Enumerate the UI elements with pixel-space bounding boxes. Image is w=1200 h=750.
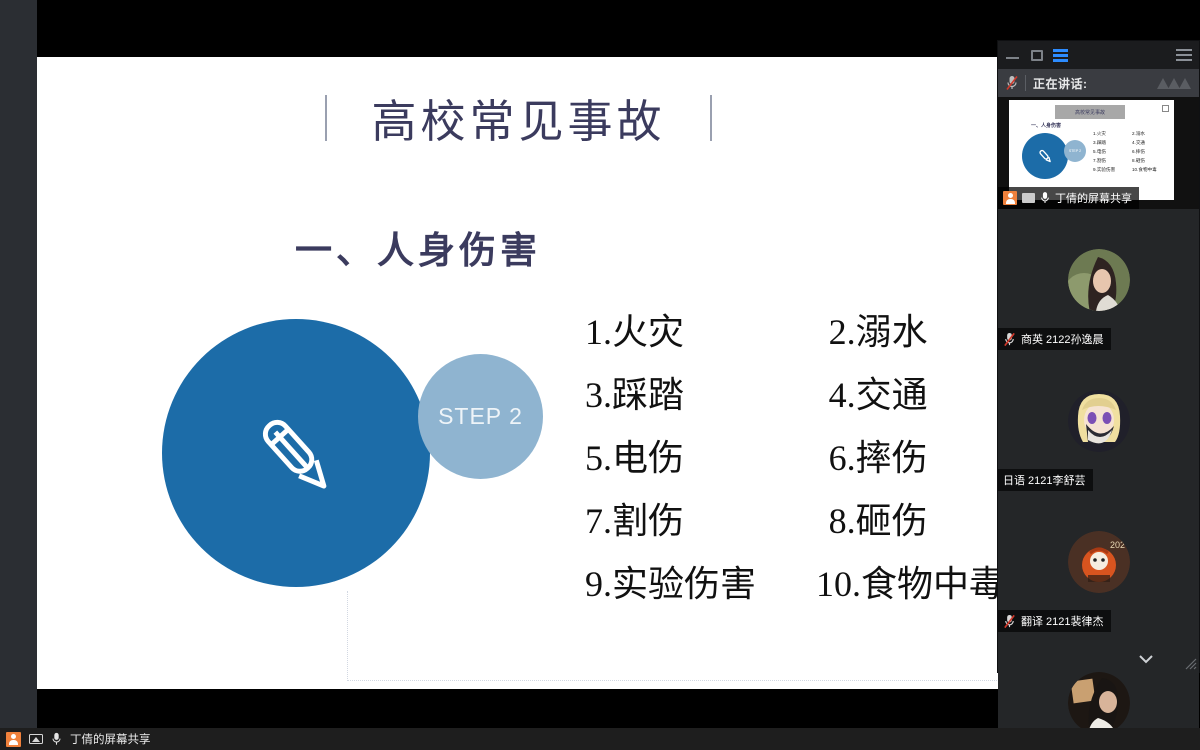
- list-item: 10.食物中毒: [816, 561, 1000, 607]
- desktop-left-strip: [0, 0, 37, 728]
- taskbar[interactable]: 丁倩的屏幕共享: [0, 728, 1200, 750]
- thumb-subtitle: 一、人身伤害: [1031, 122, 1061, 129]
- avatar: [1068, 390, 1130, 452]
- thumb-title: 高校常见事故: [1055, 105, 1125, 119]
- slide-title: 高校常见事故: [371, 85, 665, 150]
- mic-icon: [51, 732, 62, 746]
- thumb-list-item: 1.火灾: [1093, 130, 1132, 139]
- avatar: [1068, 249, 1130, 311]
- list-item: 8.砸伤: [829, 498, 1000, 544]
- thumb-step-badge: STEP 2: [1064, 140, 1086, 162]
- audio-wave-icon: [1155, 75, 1191, 91]
- mic-muted-icon: [1003, 332, 1016, 347]
- mic-muted-icon: [1006, 75, 1018, 91]
- thumb-list-item: 10.食物中毒: [1132, 166, 1171, 175]
- list-item: 1.火灾: [585, 309, 829, 355]
- title-rule-left: [325, 95, 327, 141]
- participant-name: 日语 2121李舒芸: [1003, 472, 1086, 488]
- share-thumbnail: 高校常见事故 一、人身伤害 STEP 2 1.火灾 2.溺水 3.踩踏 4.交通: [1009, 100, 1174, 200]
- taskbar-app-label: 丁倩的屏幕共享: [70, 731, 151, 747]
- speaker-divider: [1025, 75, 1026, 91]
- screen-icon: [29, 734, 43, 745]
- participant-tile[interactable]: 商英 2122孙逸晨: [998, 209, 1199, 350]
- pencil-icon: [242, 402, 352, 512]
- share-owner-name: 丁倩的屏幕共享: [1055, 190, 1132, 206]
- zoom-participants-window[interactable]: 正在讲话: 高校常见事故 一、人身伤害 STEP 2: [997, 40, 1200, 673]
- menu-icon[interactable]: [1176, 49, 1192, 61]
- zoom-app-icon[interactable]: [6, 732, 21, 747]
- mic-icon: [1040, 191, 1050, 205]
- thumb-list-item: 6.摔伤: [1132, 148, 1171, 157]
- participant-name: 商英 2122孙逸晨: [1021, 331, 1104, 347]
- mic-muted-icon: [1003, 614, 1016, 629]
- zoom-titlebar[interactable]: [998, 41, 1199, 69]
- list-item: 3.踩踏: [585, 372, 829, 418]
- step-badge-circle: STEP 2: [418, 354, 543, 479]
- screen-icon: [1022, 193, 1035, 203]
- active-speaker-label: 正在讲话:: [1033, 75, 1088, 92]
- thumb-list-item: 4.交通: [1132, 139, 1171, 148]
- thumb-list-item: 5.电伤: [1093, 148, 1132, 157]
- participant-name-badge: 翻译 2121裴律杰: [998, 610, 1111, 632]
- participant-tile[interactable]: 日语 2121李舒芸: [998, 350, 1199, 491]
- thumb-pencil-icon: [1036, 147, 1055, 166]
- slide-subtitle: 一、人身伤害: [295, 220, 541, 274]
- screen-root: 高校常见事故 一、人身伤害 STEP 2 1.火灾 2.溺水 3.踩踏: [0, 0, 1200, 750]
- title-rule-right: [710, 95, 712, 141]
- list-row: 3.踩踏 4.交通: [585, 372, 1000, 418]
- thumb-list-item: 9.实验伤害: [1093, 166, 1132, 175]
- share-name-badge: 丁倩的屏幕共享: [998, 187, 1139, 209]
- list-item: 9.实验伤害: [585, 561, 816, 607]
- resize-grip[interactable]: [1183, 656, 1197, 670]
- thumb-list-item: 2.溺水: [1132, 130, 1171, 139]
- list-item: 5.电伤: [585, 435, 829, 481]
- letterbox-top: [37, 0, 1000, 57]
- participant-name-badge: 日语 2121李舒芸: [998, 469, 1093, 491]
- chevron-down-icon[interactable]: [1135, 650, 1157, 668]
- list-item: 7.割伤: [585, 498, 829, 544]
- participant-tile[interactable]: 202 翻译 2121裴律杰: [998, 491, 1199, 632]
- thumb-list-item: 7.割伤: [1093, 157, 1132, 166]
- avatar: 202: [1068, 531, 1130, 593]
- step-label: STEP 2: [438, 403, 523, 430]
- thumb-list-item: 8.砸伤: [1132, 157, 1171, 166]
- connector-line-vertical: [347, 591, 348, 681]
- list-item: 2.溺水: [829, 309, 1000, 355]
- gallery-view-icon[interactable]: [1053, 49, 1068, 62]
- svg-text:202: 202: [1110, 540, 1125, 550]
- list-row: 1.火灾 2.溺水: [585, 309, 1000, 355]
- list-row: 5.电伤 6.摔伤: [585, 435, 1000, 481]
- connector-line-horizontal: [347, 680, 1000, 681]
- list-item: 4.交通: [829, 372, 1000, 418]
- shared-slide[interactable]: 高校常见事故 一、人身伤害 STEP 2 1.火灾 2.溺水 3.踩踏: [37, 57, 1000, 689]
- letterbox-bottom: [37, 689, 1000, 728]
- participant-name-badge: 商英 2122孙逸晨: [998, 328, 1111, 350]
- avatar: [1068, 672, 1130, 734]
- list-row: 7.割伤 8.砸伤: [585, 498, 1000, 544]
- slide-title-row: 高校常见事故: [37, 85, 1000, 150]
- list-row: 9.实验伤害 10.食物中毒: [585, 561, 1000, 607]
- accident-list: 1.火灾 2.溺水 3.踩踏 4.交通 5.电伤 6.摔伤 7.割伤 8.砸伤 …: [585, 309, 1000, 624]
- list-item: 6.摔伤: [829, 435, 1000, 481]
- maximize-icon[interactable]: [1029, 48, 1044, 63]
- minimize-icon[interactable]: [1005, 48, 1020, 63]
- screen-share-app-icon: [1003, 191, 1017, 205]
- thumb-list-item: 3.踩踏: [1093, 139, 1132, 148]
- screen-share-tile[interactable]: 高校常见事故 一、人身伤害 STEP 2 1.火灾 2.溺水 3.踩踏 4.交通: [998, 97, 1199, 209]
- thumb-list: 1.火灾 2.溺水 3.踩踏 4.交通 5.电伤 6.摔伤 7.割伤 8.砸伤 …: [1093, 130, 1171, 175]
- participant-name: 翻译 2121裴律杰: [1021, 613, 1104, 629]
- active-speaker-bar: 正在讲话:: [998, 69, 1199, 97]
- thumb-close-icon: [1162, 105, 1169, 112]
